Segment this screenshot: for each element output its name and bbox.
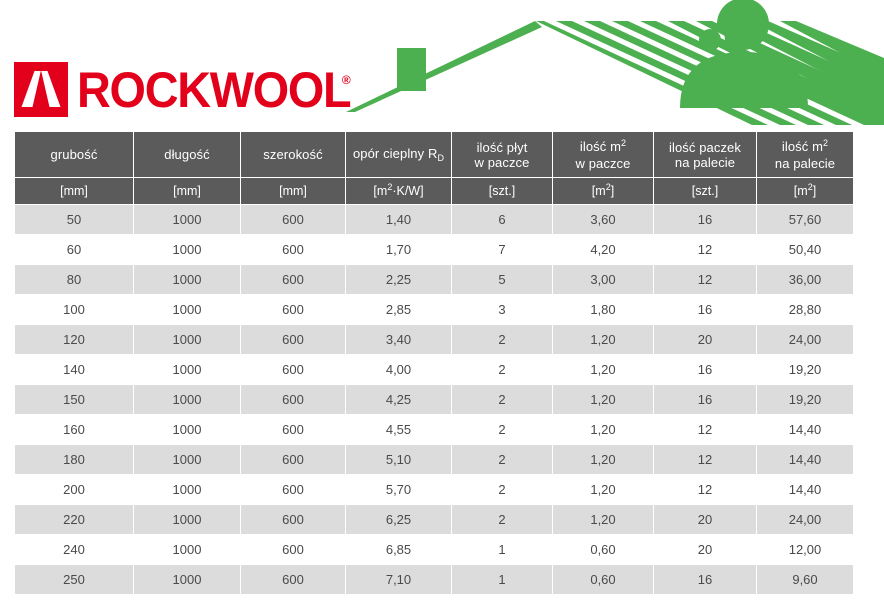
cell-paczek-na-palecie: 12 [654,475,756,504]
table-row: 14010006004,0021,201619,20 [15,355,853,384]
cell-plyt-w-paczce: 3 [452,295,552,324]
cell-szerokosc: 600 [241,205,345,234]
cell-m2-w-paczce: 1,20 [553,505,653,534]
cell-szerokosc: 600 [241,385,345,414]
cell-szerokosc: 600 [241,445,345,474]
brand-header: ROCKWOOL ® [0,0,884,128]
cell-plyt-w-paczce: 6 [452,205,552,234]
cell-m2-na-palecie: 14,40 [757,445,853,474]
cell-opor: 4,00 [346,355,451,384]
table-row: 22010006006,2521,202024,00 [15,505,853,534]
cell-grubosc: 220 [15,505,133,534]
table-row: 15010006004,2521,201619,20 [15,385,853,414]
cell-m2-na-palecie: 19,20 [757,355,853,384]
cell-szerokosc: 600 [241,505,345,534]
cell-dlugosc: 1000 [134,505,240,534]
cell-szerokosc: 600 [241,235,345,264]
table-row: 25010006007,1010,60169,60 [15,565,853,594]
table-header: grubość długość szerokość opór cieplny R… [15,132,853,204]
cell-m2-na-palecie: 9,60 [757,565,853,594]
cell-dlugosc: 1000 [134,535,240,564]
column-unit-paczek-na-palecie: [szt.] [654,178,756,204]
column-header-m2-na-palecie: ilość m2 na palecie [757,132,853,177]
cell-szerokosc: 600 [241,325,345,354]
cell-m2-w-paczce: 0,60 [553,535,653,564]
column-unit-szerokosc: [mm] [241,178,345,204]
cell-m2-w-paczce: 1,20 [553,325,653,354]
table-row: 20010006005,7021,201214,40 [15,475,853,504]
column-unit-m2-na-palecie: [m2] [757,178,853,204]
cell-szerokosc: 600 [241,415,345,444]
column-unit-dlugosc: [mm] [134,178,240,204]
cell-grubosc: 100 [15,295,133,324]
cell-plyt-w-paczce: 7 [452,235,552,264]
cell-m2-w-paczce: 3,60 [553,205,653,234]
cell-paczek-na-palecie: 12 [654,235,756,264]
cell-paczek-na-palecie: 20 [654,505,756,534]
opor-cieplny-label: opór cieplny RD [346,146,451,163]
cell-opor: 6,25 [346,505,451,534]
cell-paczek-na-palecie: 16 [654,385,756,414]
cell-grubosc: 50 [15,205,133,234]
cell-plyt-w-paczce: 2 [452,505,552,534]
cell-dlugosc: 1000 [134,295,240,324]
cell-m2-na-palecie: 24,00 [757,325,853,354]
cell-grubosc: 200 [15,475,133,504]
cell-m2-na-palecie: 24,00 [757,505,853,534]
table-body: 5010006001,4063,601657,606010006001,7074… [15,205,853,594]
table-row: 24010006006,8510,602012,00 [15,535,853,564]
table-row: 6010006001,7074,201250,40 [15,235,853,264]
cell-szerokosc: 600 [241,265,345,294]
roof-left-slope [346,21,542,112]
cell-m2-w-paczce: 1,80 [553,295,653,324]
cell-grubosc: 160 [15,415,133,444]
cell-grubosc: 120 [15,325,133,354]
cell-paczek-na-palecie: 16 [654,205,756,234]
cell-dlugosc: 1000 [134,235,240,264]
cell-grubosc: 140 [15,355,133,384]
cell-m2-w-paczce: 1,20 [553,475,653,504]
rockwool-a-mark-icon [14,62,68,117]
cell-m2-w-paczce: 0,60 [553,565,653,594]
cell-paczek-na-palecie: 12 [654,445,756,474]
table-row: 16010006004,5521,201214,40 [15,415,853,444]
m2-na-palecie-label: ilość m2 [757,139,853,156]
column-unit-plyt-w-paczce: [szt.] [452,178,552,204]
cell-m2-na-palecie: 50,40 [757,235,853,264]
cell-plyt-w-paczce: 2 [452,325,552,354]
rockwool-wordmark: ROCKWOOL ® [77,62,351,117]
cell-dlugosc: 1000 [134,565,240,594]
cell-opor: 2,25 [346,265,451,294]
cell-m2-na-palecie: 36,00 [757,265,853,294]
cell-paczek-na-palecie: 12 [654,415,756,444]
cell-plyt-w-paczce: 2 [452,385,552,414]
cell-dlugosc: 1000 [134,205,240,234]
table-row: 18010006005,1021,201214,40 [15,445,853,474]
cell-paczek-na-palecie: 16 [654,355,756,384]
column-header-grubosc: grubość [15,132,133,177]
table-row: 12010006003,4021,202024,00 [15,325,853,354]
table-row: 5010006001,4063,601657,60 [15,205,853,234]
cell-opor: 1,40 [346,205,451,234]
product-spec-table: grubość długość szerokość opór cieplny R… [14,131,854,595]
cell-paczek-na-palecie: 12 [654,265,756,294]
cell-paczek-na-palecie: 20 [654,325,756,354]
cell-plyt-w-paczce: 2 [452,445,552,474]
table-row: 10010006002,8531,801628,80 [15,295,853,324]
cell-grubosc: 60 [15,235,133,264]
column-unit-m2-w-paczce: [m2] [553,178,653,204]
cell-szerokosc: 600 [241,535,345,564]
column-unit-opor-cieplny: [m2·K/W] [346,178,451,204]
cell-paczek-na-palecie: 20 [654,535,756,564]
cell-m2-w-paczce: 1,20 [553,355,653,384]
column-header-m2-w-paczce: ilość m2 w paczce [553,132,653,177]
cell-m2-w-paczce: 3,00 [553,265,653,294]
cell-szerokosc: 600 [241,475,345,504]
rockwool-wordmark-text: ROCKWOOL [77,59,350,121]
column-header-dlugosc: długość [134,132,240,177]
table-row: 8010006002,2553,001236,00 [15,265,853,294]
column-unit-grubosc: [mm] [15,178,133,204]
cell-opor: 6,85 [346,535,451,564]
cell-szerokosc: 600 [241,565,345,594]
table-header-titles-row: grubość długość szerokość opór cieplny R… [15,132,853,177]
roof-with-worker-illustration [340,0,884,125]
cell-grubosc: 150 [15,385,133,414]
cell-m2-w-paczce: 1,20 [553,385,653,414]
cell-dlugosc: 1000 [134,265,240,294]
cell-dlugosc: 1000 [134,475,240,504]
cell-szerokosc: 600 [241,355,345,384]
table-header-units-row: [mm] [mm] [mm] [m2·K/W] [szt.] [m2] [szt… [15,178,853,204]
cell-grubosc: 240 [15,535,133,564]
column-header-plyt-w-paczce: ilość płyt w paczce [452,132,552,177]
cell-m2-na-palecie: 57,60 [757,205,853,234]
cell-grubosc: 180 [15,445,133,474]
cell-opor: 4,25 [346,385,451,414]
cell-m2-na-palecie: 14,40 [757,475,853,504]
cell-m2-na-palecie: 12,00 [757,535,853,564]
m2-w-paczce-label: ilość m2 [553,139,653,156]
column-header-opor-cieplny: opór cieplny RD [346,132,451,177]
cell-plyt-w-paczce: 2 [452,355,552,384]
cell-m2-w-paczce: 1,20 [553,415,653,444]
cell-dlugosc: 1000 [134,385,240,414]
cell-m2-na-palecie: 14,40 [757,415,853,444]
cell-plyt-w-paczce: 1 [452,565,552,594]
rockwool-logo: ROCKWOOL ® [14,62,351,117]
column-header-szerokosc: szerokość [241,132,345,177]
cell-szerokosc: 600 [241,295,345,324]
cell-grubosc: 80 [15,265,133,294]
cell-dlugosc: 1000 [134,325,240,354]
cell-opor: 7,10 [346,565,451,594]
cell-m2-na-palecie: 28,80 [757,295,853,324]
cell-plyt-w-paczce: 1 [452,535,552,564]
cell-opor: 2,85 [346,295,451,324]
cell-paczek-na-palecie: 16 [654,295,756,324]
cell-m2-na-palecie: 19,20 [757,385,853,414]
cell-m2-w-paczce: 4,20 [553,235,653,264]
roof-right-stripes [536,21,884,125]
cell-paczek-na-palecie: 16 [654,565,756,594]
cell-opor: 4,55 [346,415,451,444]
cell-m2-w-paczce: 1,20 [553,445,653,474]
cell-plyt-w-paczce: 2 [452,475,552,504]
cell-opor: 5,10 [346,445,451,474]
cell-opor: 5,70 [346,475,451,504]
cell-dlugosc: 1000 [134,355,240,384]
cell-opor: 3,40 [346,325,451,354]
cell-plyt-w-paczce: 5 [452,265,552,294]
cell-dlugosc: 1000 [134,415,240,444]
cell-grubosc: 250 [15,565,133,594]
cell-plyt-w-paczce: 2 [452,415,552,444]
column-header-paczek-na-palecie: ilość paczek na palecie [654,132,756,177]
cell-opor: 1,70 [346,235,451,264]
cell-dlugosc: 1000 [134,445,240,474]
